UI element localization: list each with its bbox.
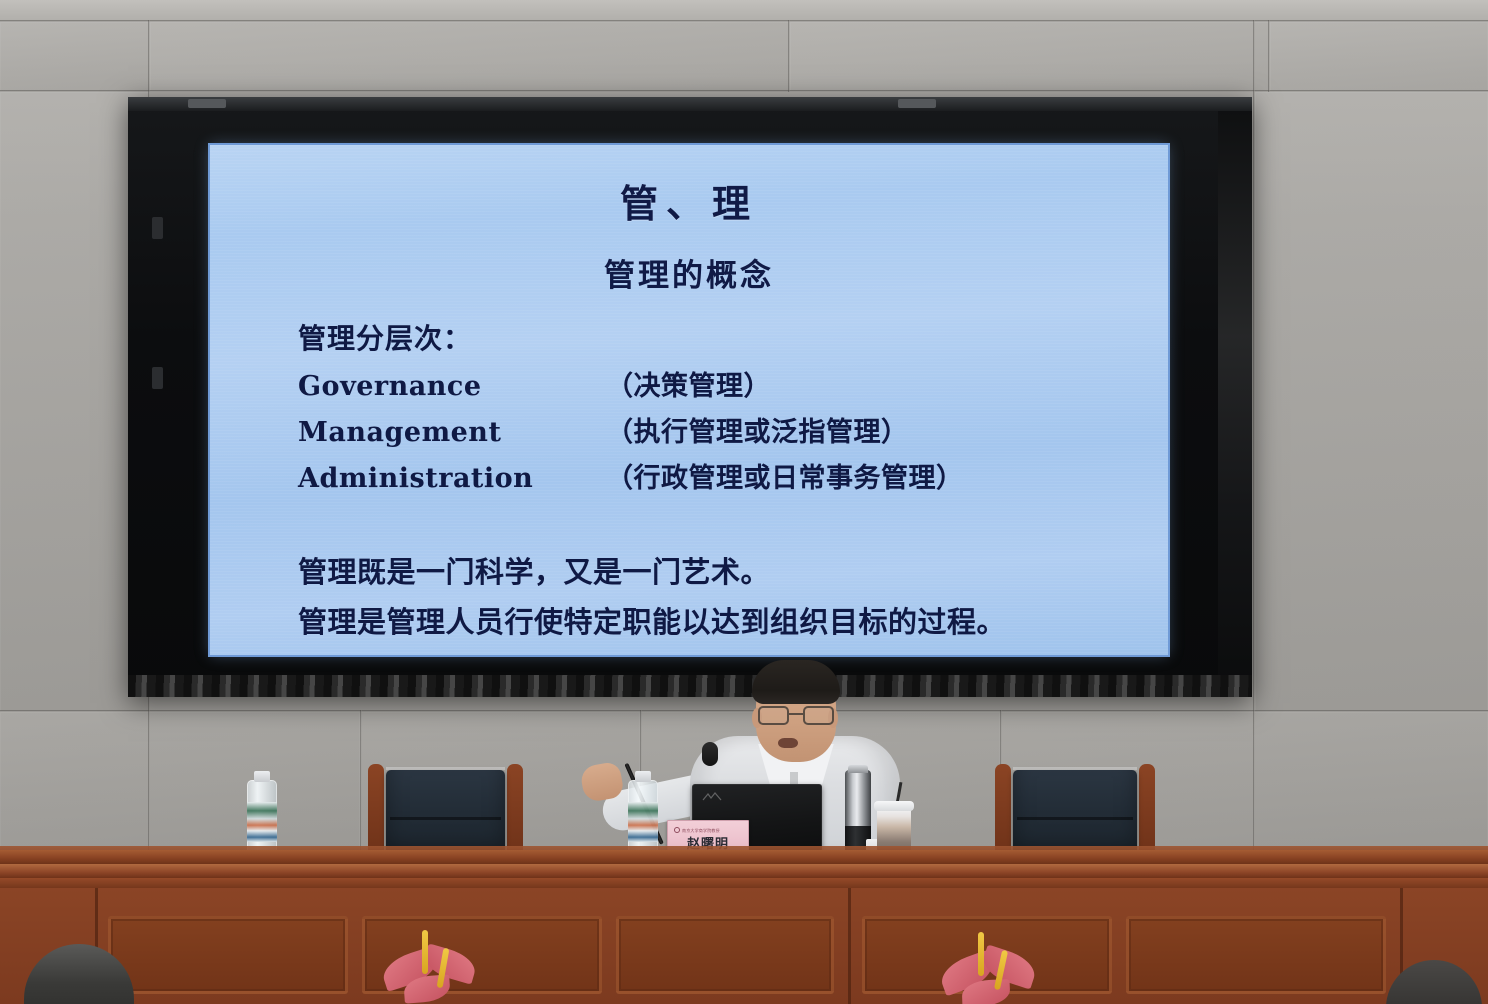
tier-label-en: Governance <box>298 371 606 402</box>
tier-label-en: Management <box>298 417 606 448</box>
anthurium-flower-left <box>378 924 498 1004</box>
chair-top-highlight <box>1013 767 1137 770</box>
slide-note-line-1: 管理既是一门科学，又是一门艺术。 <box>298 549 1128 591</box>
slide-subtitle: 管理的概念 <box>250 250 1128 295</box>
presentation-slide: 管、理 管理的概念 管理分层次： Governance （决策管理） Manag… <box>210 145 1168 655</box>
bezel-side-sensor <box>152 217 163 239</box>
wall-panel <box>0 22 150 92</box>
slide-note-line-2: 管理是管理人员行使特定职能以达到组织目标的过程。 <box>298 599 1128 641</box>
display-screen-frame: 管、理 管理的概念 管理分层次： Governance （决策管理） Manag… <box>128 97 1252 697</box>
wall-seam <box>360 710 362 862</box>
water-bottle-left <box>247 780 277 856</box>
wall-panel <box>1255 92 1488 712</box>
slide-content: 管、理 管理的概念 管理分层次： Governance （决策管理） Manag… <box>210 145 1168 655</box>
bottle-cap <box>254 771 270 782</box>
speaker-hair <box>752 660 840 704</box>
bezel-side-sensor <box>152 367 163 389</box>
podium-panel <box>1126 916 1386 994</box>
chair-crease <box>390 817 501 820</box>
wall-panel <box>1270 22 1488 92</box>
lecture-hall-photo: 管、理 管理的概念 管理分层次： Governance （决策管理） Manag… <box>0 0 1488 1004</box>
wall-seam <box>0 90 1488 92</box>
tier-label-zh: （决策管理） <box>606 364 771 403</box>
wooden-podium <box>0 864 1488 1004</box>
slide-lead-line: 管理分层次： <box>298 317 1128 357</box>
slide-title: 管、理 <box>250 173 1128 228</box>
wall-seam <box>1268 20 1270 92</box>
laptop-brand-logo <box>702 792 722 802</box>
cup-lid <box>874 801 914 811</box>
podium-panel <box>616 916 834 994</box>
wall-top-band <box>0 0 1488 22</box>
wall-panel <box>790 22 1270 92</box>
tier-row-administration: Administration （行政管理或日常事务管理） <box>298 456 1128 495</box>
water-bottle-center <box>628 780 658 856</box>
tier-label-zh: （执行管理或泛指管理） <box>606 410 909 449</box>
bezel-mount-nub <box>188 99 226 108</box>
speaker-mouth <box>778 738 798 748</box>
thermos-cap <box>848 765 868 773</box>
display-edge-reflection <box>1218 111 1252 675</box>
bottle-cap <box>635 771 651 782</box>
desk-front-ledge <box>0 850 1488 864</box>
wall-seam <box>0 20 1488 22</box>
tier-label-zh: （行政管理或日常事务管理） <box>606 456 964 495</box>
nameplate-seal-icon <box>674 827 680 833</box>
wall-panel <box>150 22 790 92</box>
tier-label-en: Administration <box>298 463 606 494</box>
flower-spadix <box>978 932 984 976</box>
bezel-mount-nub <box>898 99 936 108</box>
podium-seam <box>848 888 851 1004</box>
speaker-glasses <box>756 706 836 726</box>
podium-panel <box>108 916 348 994</box>
podium-lip <box>0 878 1488 888</box>
glasses-lens-right <box>803 706 834 725</box>
podium-top-rail <box>0 864 1488 878</box>
anthurium-flower-right <box>938 924 1058 1004</box>
bottle-label <box>628 802 658 842</box>
wall-panel <box>0 712 360 862</box>
bottle-label <box>247 802 277 842</box>
nameplate-org-text: 南京大学商学院教授 <box>682 828 720 834</box>
display-top-bezel <box>128 97 1252 111</box>
chair-top-highlight <box>386 767 505 770</box>
glasses-lens-left <box>758 706 789 725</box>
microphone-head <box>702 742 718 766</box>
tier-row-management: Management （执行管理或泛指管理） <box>298 410 1128 449</box>
tier-row-governance: Governance （决策管理） <box>298 364 1128 403</box>
flower-spadix <box>422 930 428 974</box>
glasses-bridge <box>789 713 803 715</box>
wall-seam <box>1253 20 1255 862</box>
chair-crease <box>1017 817 1133 820</box>
wall-seam <box>788 20 790 92</box>
